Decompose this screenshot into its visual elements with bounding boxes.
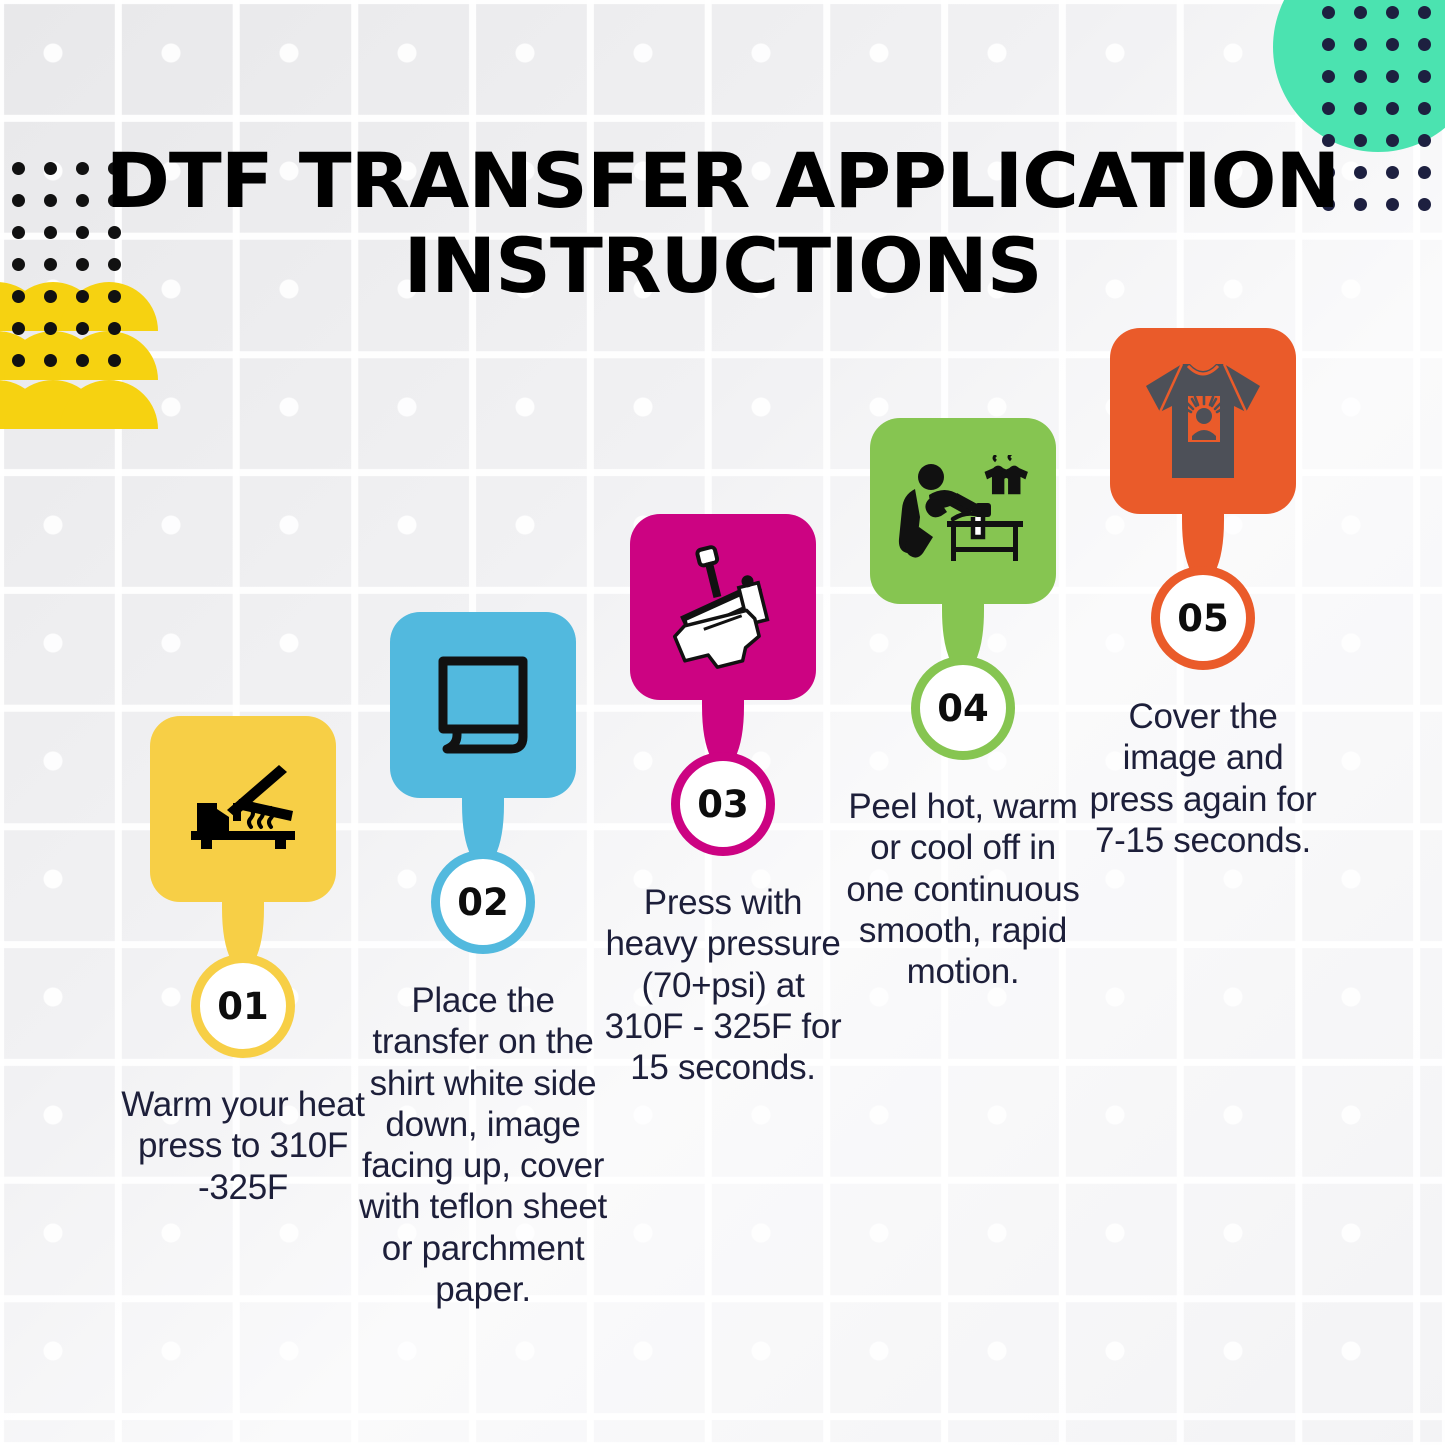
heat-press-machine-icon	[659, 544, 787, 670]
step-number-label: 01	[217, 985, 269, 1028]
step-number-label: 02	[457, 881, 509, 924]
step-01: 01Warm your heat press to 310F -325F	[118, 716, 368, 1208]
step-02: 02Place the transfer on the shirt white …	[358, 612, 608, 1310]
step-number-label: 05	[1177, 597, 1229, 640]
step-icon-card-04[interactable]	[870, 418, 1056, 604]
step-description-02: Place the transfer on the shirt white si…	[358, 980, 608, 1310]
step-number-badge-03[interactable]: 03	[671, 752, 775, 856]
step-number-label: 03	[697, 783, 749, 826]
step-03: 03Press with heavy pressure (70+psi) at …	[598, 514, 848, 1088]
step-number-label: 04	[937, 687, 989, 730]
transfer-sheet-icon	[427, 649, 539, 761]
step-description-04: Peel hot, warm or cool off in one contin…	[838, 786, 1088, 992]
step-number-badge-01[interactable]: 01	[191, 954, 295, 1058]
step-icon-card-05[interactable]	[1110, 328, 1296, 514]
step-05: 05Cover the image and press again for 7-…	[1078, 328, 1328, 861]
step-description-01: Warm your heat press to 310F -325F	[118, 1084, 368, 1208]
step-icon-card-03[interactable]	[630, 514, 816, 700]
step-icon-card-01[interactable]	[150, 716, 336, 902]
steps-container: 01Warm your heat press to 310F -325F 02P…	[0, 0, 1445, 1445]
step-number-badge-04[interactable]: 04	[911, 656, 1015, 760]
heat-press-open-icon	[183, 759, 303, 859]
printed-tshirt-icon	[1136, 354, 1270, 488]
step-04: 04Peel hot, warm or cool off in one cont…	[838, 418, 1088, 992]
step-icon-card-02[interactable]	[390, 612, 576, 798]
step-description-03: Press with heavy pressure (70+psi) at 31…	[598, 882, 848, 1088]
person-peeling-transfer-icon	[895, 455, 1031, 567]
step-number-badge-05[interactable]: 05	[1151, 566, 1255, 670]
step-number-badge-02[interactable]: 02	[431, 850, 535, 954]
step-description-05: Cover the image and press again for 7-15…	[1078, 696, 1328, 861]
